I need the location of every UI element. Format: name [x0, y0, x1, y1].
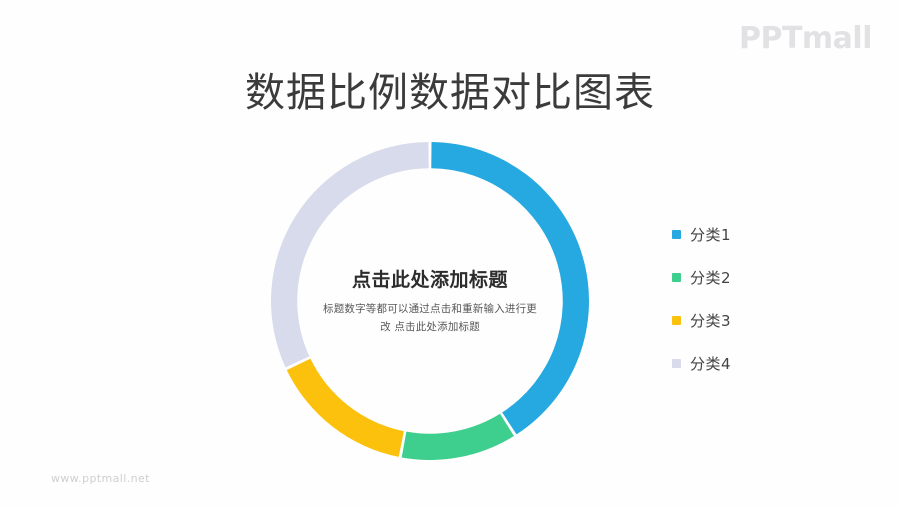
donut-segment-0[interactable] [431, 142, 589, 434]
slide-canvas: PPTmall 数据比例数据对比图表 点击此处添加标题 标题数字等都可以通过点击… [0, 0, 900, 506]
legend-swatch-icon-1 [672, 273, 681, 282]
donut-segment-2[interactable] [287, 359, 404, 457]
pptmall-logo: PPTmall [739, 24, 872, 54]
legend-label-0: 分类1 [690, 225, 731, 245]
legend-item-1[interactable]: 分类2 [672, 256, 832, 299]
page-title: 数据比例数据对比图表 [0, 65, 900, 121]
legend-swatch-icon-2 [672, 316, 681, 325]
legend-item-0[interactable]: 分类1 [672, 213, 832, 256]
legend-label-3: 分类4 [690, 354, 731, 374]
donut-chart: 点击此处添加标题 标题数字等都可以通过点击和重新输入进行更改 点击此处添加标题 [271, 142, 589, 460]
legend-item-2[interactable]: 分类3 [672, 299, 832, 342]
footer-url: www.pptmall.net [51, 472, 150, 485]
legend-label-1: 分类2 [690, 268, 731, 288]
donut-segment-1[interactable] [402, 414, 514, 460]
donut-chart-svg [271, 142, 589, 460]
legend-label-2: 分类3 [690, 311, 731, 331]
legend-item-3[interactable]: 分类4 [672, 342, 832, 385]
chart-legend: 分类1 分类2 分类3 分类4 [672, 213, 832, 385]
legend-swatch-icon-0 [672, 230, 681, 239]
legend-swatch-icon-3 [672, 359, 681, 368]
donut-segment-3[interactable] [271, 142, 429, 367]
